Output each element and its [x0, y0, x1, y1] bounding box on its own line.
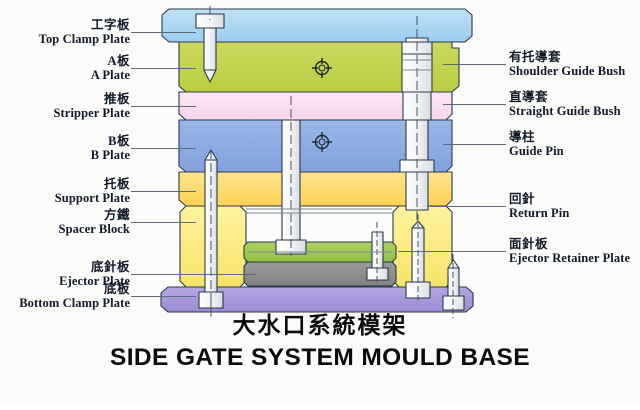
label-return-pin-cn: 回針	[509, 193, 569, 207]
label-ejector-retainer-plate: 面針板 Ejector Retainer Plate	[509, 238, 630, 265]
label-spacer-block-en: Spacer Block	[59, 223, 130, 237]
leader-line-a-plate	[131, 68, 196, 69]
label-guide-pin: 導柱 Guide Pin	[509, 131, 564, 158]
label-spacer-block-cn: 方鐵	[59, 209, 130, 223]
leader-line-stripper-plate	[131, 106, 196, 107]
leader-line-return-pin	[430, 206, 506, 207]
label-shoulder-guide-bush-en: Shoulder Guide Bush	[509, 65, 625, 79]
label-bottom-clamp-plate-cn: 底板	[19, 283, 130, 297]
label-b-plate-cn: B板	[91, 135, 130, 149]
label-shoulder-guide-bush-cn: 有托導套	[509, 51, 625, 65]
label-return-pin-en: Return Pin	[509, 207, 569, 221]
leader-line-straight-guide-bush	[443, 104, 506, 105]
label-return-pin: 回針 Return Pin	[509, 193, 569, 220]
diagram-title-chinese: 大水口系統模架	[0, 312, 640, 341]
leader-line-shoulder-guide-bush	[443, 64, 506, 65]
label-a-plate: A板 A Plate	[91, 55, 130, 82]
leader-line-guide-pin	[443, 144, 506, 145]
label-b-plate-en: B Plate	[91, 149, 130, 163]
label-a-plate-cn: A板	[91, 55, 130, 69]
leader-line-bottom-clamp-plate	[131, 296, 196, 297]
part-top-bolt-shank	[204, 28, 216, 70]
leader-line-ejector-plate	[131, 274, 256, 275]
diagram-title: 大水口系統模架 SIDE GATE SYSTEM MOULD BASE	[0, 312, 640, 373]
label-top-clamp-plate: 工字板 Top Clamp Plate	[39, 19, 130, 46]
leader-line-support-plate	[131, 191, 196, 192]
label-stripper-plate-cn: 推板	[53, 93, 130, 107]
label-guide-pin-en: Guide Pin	[509, 145, 564, 159]
leader-line-ejector-retainer	[398, 251, 506, 252]
label-b-plate: B板 B Plate	[91, 135, 130, 162]
label-straight-guide-bush: 直導套 Straight Guide Bush	[509, 91, 621, 118]
part-top-bolt-head	[196, 14, 224, 28]
label-support-plate-en: Support Plate	[55, 192, 130, 206]
label-ejector-retainer-plate-en: Ejector Retainer Plate	[509, 252, 630, 266]
label-bottom-clamp-plate: 底板 Bottom Clamp Plate	[19, 283, 130, 310]
label-top-clamp-plate-en: Top Clamp Plate	[39, 33, 130, 47]
leader-line-top-clamp-plate	[131, 32, 196, 33]
leader-line-b-plate	[131, 148, 196, 149]
label-support-plate-cn: 托板	[55, 178, 130, 192]
label-guide-pin-cn: 導柱	[509, 131, 564, 145]
label-top-clamp-plate-cn: 工字板	[39, 19, 130, 33]
label-ejector-plate-cn: 底針板	[59, 261, 130, 275]
label-a-plate-en: A Plate	[91, 69, 130, 83]
leader-line-spacer-block	[131, 222, 196, 223]
label-stripper-plate-en: Stripper Plate	[53, 107, 130, 121]
label-straight-guide-bush-cn: 直導套	[509, 91, 621, 105]
label-ejector-retainer-plate-cn: 面針板	[509, 238, 630, 252]
label-spacer-block: 方鐵 Spacer Block	[59, 209, 130, 236]
label-bottom-clamp-plate-en: Bottom Clamp Plate	[19, 297, 130, 311]
label-support-plate: 托板 Support Plate	[55, 178, 130, 205]
label-stripper-plate: 推板 Stripper Plate	[53, 93, 130, 120]
diagram-canvas: 工字板 Top Clamp Plate A板 A Plate 推板 Stripp…	[0, 0, 640, 410]
label-straight-guide-bush-en: Straight Guide Bush	[509, 105, 621, 119]
diagram-title-english: SIDE GATE SYSTEM MOULD BASE	[0, 343, 640, 374]
label-shoulder-guide-bush: 有托導套 Shoulder Guide Bush	[509, 51, 625, 78]
